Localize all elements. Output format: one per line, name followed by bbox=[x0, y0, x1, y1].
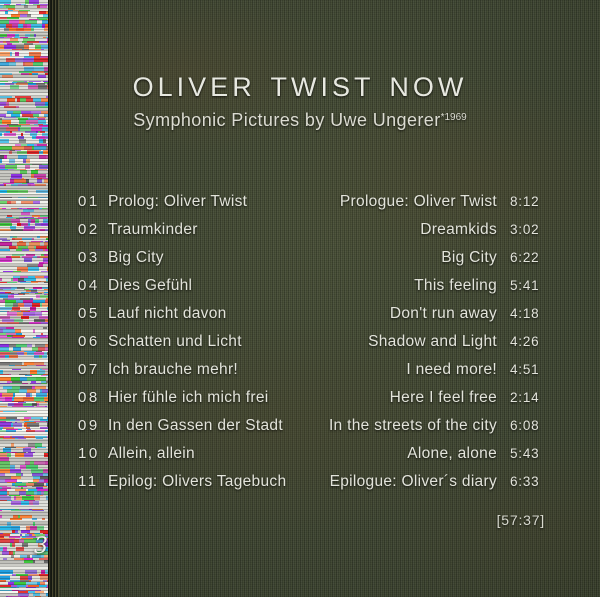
track-row: 08Hier fühle ich mich freiHere I feel fr… bbox=[0, 384, 600, 412]
album-subtitle: Symphonic Pictures by Uwe Ungerer*1969 bbox=[0, 110, 600, 131]
track-number: 02 bbox=[78, 216, 100, 244]
track-duration: 6:08 bbox=[510, 412, 539, 440]
track-number: 03 bbox=[78, 244, 100, 272]
track-duration: 3:02 bbox=[510, 216, 539, 244]
track-duration: 4:18 bbox=[510, 300, 539, 328]
track-title-english: Here I feel free bbox=[390, 384, 497, 412]
track-row: 09In den Gassen der StadtIn the streets … bbox=[0, 412, 600, 440]
total-running-time: [57:37] bbox=[0, 512, 600, 528]
track-title-german: Dies Gefühl bbox=[108, 272, 192, 300]
track-row: 11Epilog: Olivers TagebuchEpilogue: Oliv… bbox=[0, 468, 600, 496]
track-number: 06 bbox=[78, 328, 100, 356]
track-number: 08 bbox=[78, 384, 100, 412]
track-number: 01 bbox=[78, 188, 100, 216]
track-duration: 4:51 bbox=[510, 356, 539, 384]
track-title-german: In den Gassen der Stadt bbox=[108, 412, 283, 440]
track-title-english: Alone, alone bbox=[407, 440, 497, 468]
track-title-english: Don't run away bbox=[390, 300, 497, 328]
track-title-german: Big City bbox=[108, 244, 164, 272]
track-title-english: Big City bbox=[441, 244, 497, 272]
page-number: 3 bbox=[34, 534, 48, 559]
track-title-english: This feeling bbox=[414, 272, 497, 300]
track-row: 04Dies GefühlThis feeling5:41 bbox=[0, 272, 600, 300]
track-number: 11 bbox=[78, 468, 99, 496]
booklet-content: Oliver Twist Now Symphonic Pictures by U… bbox=[0, 0, 600, 597]
track-title-english: Epilogue: Oliver´s diary bbox=[330, 468, 497, 496]
track-title-english: In the streets of the city bbox=[329, 412, 497, 440]
track-title-german: Hier fühle ich mich frei bbox=[108, 384, 269, 412]
track-title-german: Traumkinder bbox=[108, 216, 198, 244]
cd-booklet-page: Oliver Twist Now Symphonic Pictures by U… bbox=[0, 0, 600, 597]
track-title-german: Ich brauche mehr! bbox=[108, 356, 238, 384]
album-title: Oliver Twist Now bbox=[0, 62, 600, 106]
track-number: 07 bbox=[78, 356, 100, 384]
track-title-english: Prologue: Oliver Twist bbox=[340, 188, 497, 216]
track-title-german: Prolog: Oliver Twist bbox=[108, 188, 247, 216]
track-row: 02TraumkinderDreamkids3:02 bbox=[0, 216, 600, 244]
track-row: 01Prolog: Oliver TwistPrologue: Oliver T… bbox=[0, 188, 600, 216]
track-title-german: Schatten und Licht bbox=[108, 328, 242, 356]
track-duration: 4:26 bbox=[510, 328, 539, 356]
track-title-english: Shadow and Light bbox=[368, 328, 497, 356]
track-title-german: Lauf nicht davon bbox=[108, 300, 227, 328]
track-duration: 5:41 bbox=[510, 272, 539, 300]
track-row: 06Schatten und LichtShadow and Light4:26 bbox=[0, 328, 600, 356]
track-duration: 5:43 bbox=[510, 440, 539, 468]
track-duration: 2:14 bbox=[510, 384, 539, 412]
composer-birth-year: *1969 bbox=[441, 112, 467, 123]
tracklist: 01Prolog: Oliver TwistPrologue: Oliver T… bbox=[0, 188, 600, 496]
track-number: 10 bbox=[78, 440, 100, 468]
track-row: 05Lauf nicht davonDon't run away4:18 bbox=[0, 300, 600, 328]
track-duration: 6:33 bbox=[510, 468, 539, 496]
track-row: 03Big CityBig City6:22 bbox=[0, 244, 600, 272]
track-row: 10Allein, alleinAlone, alone5:43 bbox=[0, 440, 600, 468]
track-row: 07Ich brauche mehr!I need more!4:51 bbox=[0, 356, 600, 384]
track-duration: 8:12 bbox=[510, 188, 539, 216]
track-title-german: Allein, allein bbox=[108, 440, 195, 468]
track-number: 04 bbox=[78, 272, 100, 300]
track-number: 09 bbox=[78, 412, 100, 440]
album-subtitle-text: Symphonic Pictures by Uwe Ungerer bbox=[133, 110, 440, 130]
track-title-english: I need more! bbox=[406, 356, 497, 384]
track-number: 05 bbox=[78, 300, 100, 328]
track-title-english: Dreamkids bbox=[420, 216, 497, 244]
track-duration: 6:22 bbox=[510, 244, 539, 272]
track-title-german: Epilog: Olivers Tagebuch bbox=[108, 468, 286, 496]
